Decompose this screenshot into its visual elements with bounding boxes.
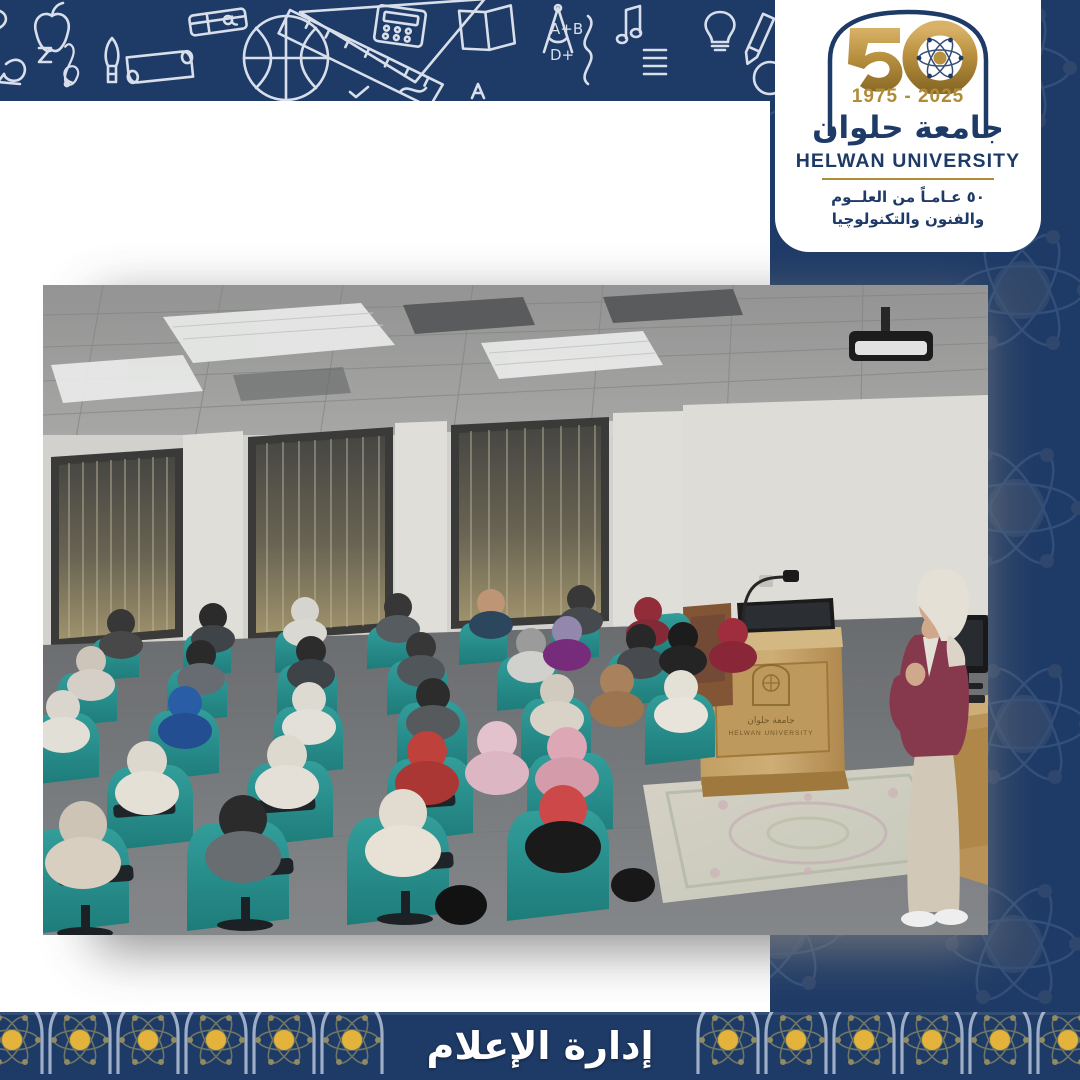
scroll-icon [126,51,194,84]
basketball-icon [244,16,328,100]
banner-title: إدارة الإعلام [0,1012,1080,1080]
post-canvas: A+B D+ [0,0,1080,1080]
paintbrush-icon [106,38,119,82]
logo-divider [822,178,994,180]
book-icon [459,5,515,52]
eraser-icon [0,8,8,33]
logo-tagline-line-1: ٥٠ عـامـاً من العلــوم [831,188,985,206]
school-doodles-band: A+B D+ [0,0,790,101]
helwan-university-50-logo: 1975 - 2025 جامعة حلوان HELWAN UNIVERSIT… [775,0,1041,252]
squiggle-icon [0,60,25,84]
apple-icon [35,3,69,51]
d-plus-icon: D+ [550,46,574,64]
media-department-banner: إدارة الإعلام [0,1012,1080,1080]
svg-text:D+: D+ [550,46,574,64]
pencil-icon [742,14,774,66]
check-mark-icon [350,87,368,97]
logo-arabic-name: جامعة حلوان [812,110,1004,146]
lightbulb-icon [706,12,735,50]
wave-line-icon [585,16,592,84]
swoosh-icon [400,88,426,92]
logo-english-name: HELWAN UNIVERSITY [796,150,1021,173]
letter-a-icon [472,84,484,98]
plus-b-icon: A+B [550,20,583,38]
logo-tagline-line-2: والفنون والتكنولوچيا [832,210,985,228]
sunburst-icon [644,50,666,74]
logo-years: 1975 - 2025 [852,86,964,108]
music-note-icon [617,6,641,43]
anniversary-50-mark [808,16,1008,94]
lecture-hall-seminar-photo: جامعة حلوان HELWAN UNIVERSITY [43,285,988,935]
lecture-hall-illustration: جامعة حلوان HELWAN UNIVERSITY [43,285,988,935]
calculator-icon [374,5,427,47]
school-doodles-svg: A+B D+ [0,0,790,101]
treble-clef-icon [64,44,78,86]
svg-text:A+B: A+B [550,20,583,38]
pencil-sharpener-icon [189,8,247,36]
